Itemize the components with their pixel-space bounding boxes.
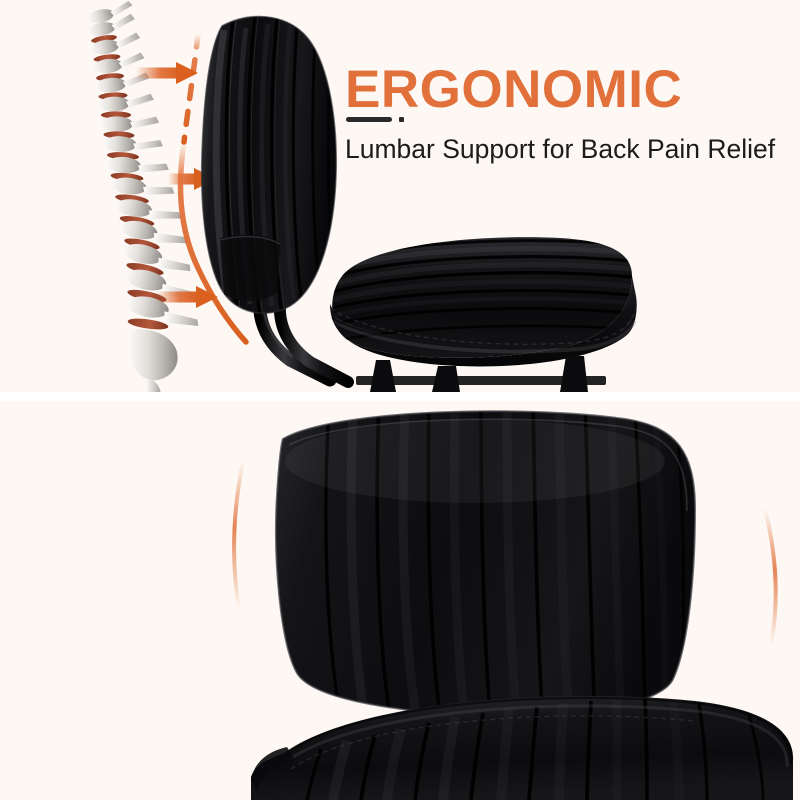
backrest <box>202 10 337 316</box>
ergonomic-divider <box>346 117 404 122</box>
seat-cushion <box>251 696 793 800</box>
divider-bar <box>346 117 392 122</box>
panel-separator <box>0 392 800 401</box>
office-chair-front-view <box>225 401 800 800</box>
accent-flare-right <box>765 509 776 645</box>
ergonomic-panel: ERGONOMIC Lumbar Support for Back Pain R… <box>0 0 800 392</box>
ergonomic-headline: ERGONOMIC <box>345 61 682 118</box>
accent-flare-left <box>234 461 243 609</box>
vertical-stripe-panel: VERTICAL STRIPE DESIGN Simple and Beauti… <box>0 401 800 800</box>
divider-dot <box>399 117 404 122</box>
product-feature-image: ERGONOMIC Lumbar Support for Back Pain R… <box>0 0 800 800</box>
ergonomic-subtitle: Lumbar Support for Back Pain Relief <box>345 134 775 165</box>
seat-cushion <box>330 237 642 366</box>
backrest <box>276 401 695 723</box>
